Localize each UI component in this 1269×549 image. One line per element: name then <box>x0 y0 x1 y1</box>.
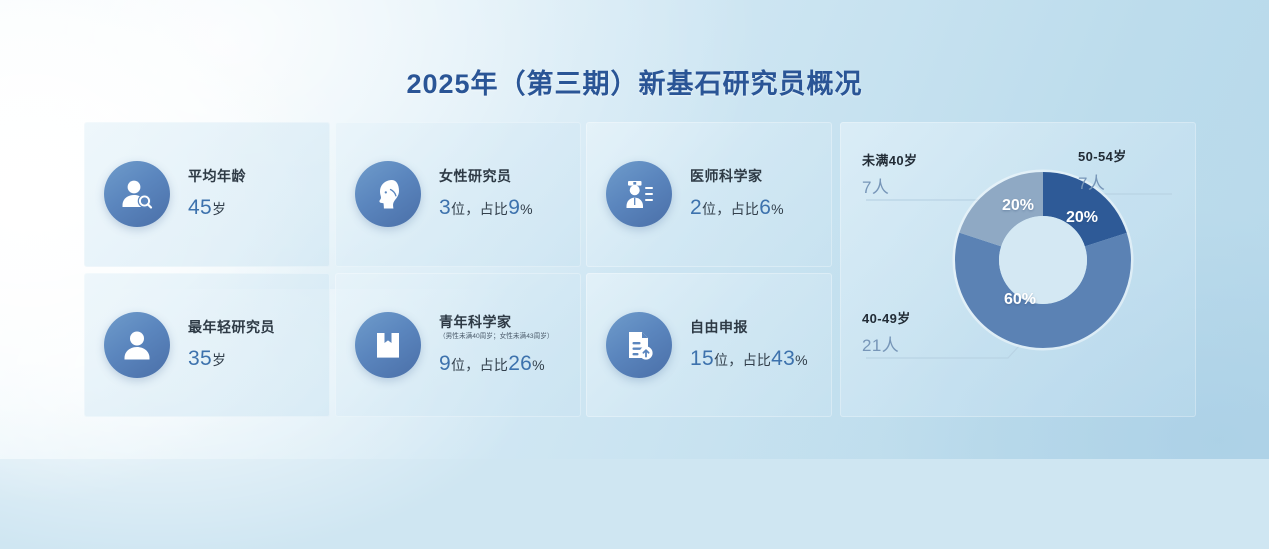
callout-label: 40-49岁 <box>862 308 911 327</box>
stat-value-unit: 位，占比 <box>702 201 759 217</box>
donut-percent-50-54: 20% <box>1066 209 1098 227</box>
callout-label: 未满40岁 <box>862 150 917 169</box>
person-search-icon <box>104 161 170 227</box>
stat-card-text: 自由申报 15位，占比43% <box>690 319 808 371</box>
stat-card-label: 平均年龄 <box>188 168 246 185</box>
callout-count: 7人 <box>862 173 917 198</box>
age-distribution-chart-panel: 20% 20% 60% 未满40岁 7人 50-54岁 7人 40-49岁 21… <box>840 122 1196 417</box>
stat-value-number: 35 <box>188 347 212 370</box>
callout-count: 21人 <box>862 331 911 356</box>
stat-card-value: 2位，占比6% <box>690 196 784 220</box>
stat-card-text: 女性研究员 3位，占比9% <box>439 168 533 220</box>
stat-card-value: 15位，占比43% <box>690 347 808 371</box>
stat-value-percent: 9 <box>508 196 520 219</box>
stat-value-percent-sign: % <box>532 357 545 373</box>
stat-card-youngest-researcher: 最年轻研究员 35岁 <box>84 273 330 418</box>
callout-50-54: 50-54岁 7人 <box>1078 146 1127 194</box>
stat-card-text: 医师科学家 2位，占比6% <box>690 168 784 220</box>
stat-card-free-application: 自由申报 15位，占比43% <box>586 273 832 418</box>
stat-card-label: 自由申报 <box>690 319 808 336</box>
stat-card-value: 3位，占比9% <box>439 196 533 220</box>
stat-card-label: 青年科学家 <box>439 314 560 331</box>
stat-card-subtitle: （男性未满40周岁；女性未满43周岁） <box>439 333 554 340</box>
physician-scientist-icon <box>606 161 672 227</box>
stat-card-value: 35岁 <box>188 347 275 371</box>
callout-under-40: 未满40岁 7人 <box>862 150 917 198</box>
stat-value-unit: 位，占比 <box>451 201 508 217</box>
stat-value-unit: 位，占比 <box>451 357 508 373</box>
donut-percent-under-40: 20% <box>1002 197 1034 215</box>
stat-value-number: 2 <box>690 196 702 219</box>
donut-percent-40-49: 60% <box>1004 291 1036 309</box>
stat-card-female-researchers: 女性研究员 3位，占比9% <box>335 122 581 267</box>
stat-value-number: 9 <box>439 352 451 375</box>
stat-card-value: 45岁 <box>188 196 246 220</box>
stat-card-value: 9位，占比26% <box>439 352 560 376</box>
stat-value-unit: 位，占比 <box>714 352 771 368</box>
stat-card-label: 女性研究员 <box>439 168 533 185</box>
stat-card-label: 最年轻研究员 <box>188 319 275 336</box>
main-content: 平均年龄 45岁 女性研究员 <box>84 122 1196 417</box>
stat-value-percent: 6 <box>759 196 771 219</box>
infographic-background: 2025年（第三期）新基石研究员概况 平均年龄 45岁 <box>0 0 1269 459</box>
person-icon <box>104 312 170 378</box>
female-head-icon <box>355 161 421 227</box>
stat-card-physician-scientists: 医师科学家 2位，占比6% <box>586 122 832 267</box>
callout-40-49: 40-49岁 21人 <box>862 308 911 356</box>
document-upload-icon <box>606 312 672 378</box>
stat-value-number: 3 <box>439 196 451 219</box>
stat-value-percent-sign: % <box>771 201 784 217</box>
book-icon <box>355 312 421 378</box>
stat-value-percent-sign: % <box>520 201 533 217</box>
page-title: 2025年（第三期）新基石研究员概况 <box>0 62 1269 101</box>
stat-value-unit: 岁 <box>212 352 226 368</box>
stat-card-text: 平均年龄 45岁 <box>188 168 246 220</box>
stat-card-average-age: 平均年龄 45岁 <box>84 122 330 267</box>
stat-value-unit: 岁 <box>212 201 226 217</box>
stat-value-percent: 43 <box>771 347 795 370</box>
stats-card-grid: 平均年龄 45岁 女性研究员 <box>84 122 832 417</box>
stat-card-text: 青年科学家 （男性未满40周岁；女性未满43周岁） 9位，占比26% <box>439 314 560 376</box>
stat-card-label: 医师科学家 <box>690 168 784 185</box>
stat-card-young-scientists: 青年科学家 （男性未满40周岁；女性未满43周岁） 9位，占比26% <box>335 273 581 418</box>
stat-value-number: 15 <box>690 347 714 370</box>
callout-label: 50-54岁 <box>1078 146 1127 165</box>
stat-value-percent-sign: % <box>795 352 808 368</box>
stat-value-percent: 26 <box>508 352 532 375</box>
callout-count: 7人 <box>1078 169 1127 194</box>
stat-value-number: 45 <box>188 196 212 219</box>
stat-card-text: 最年轻研究员 35岁 <box>188 319 275 371</box>
